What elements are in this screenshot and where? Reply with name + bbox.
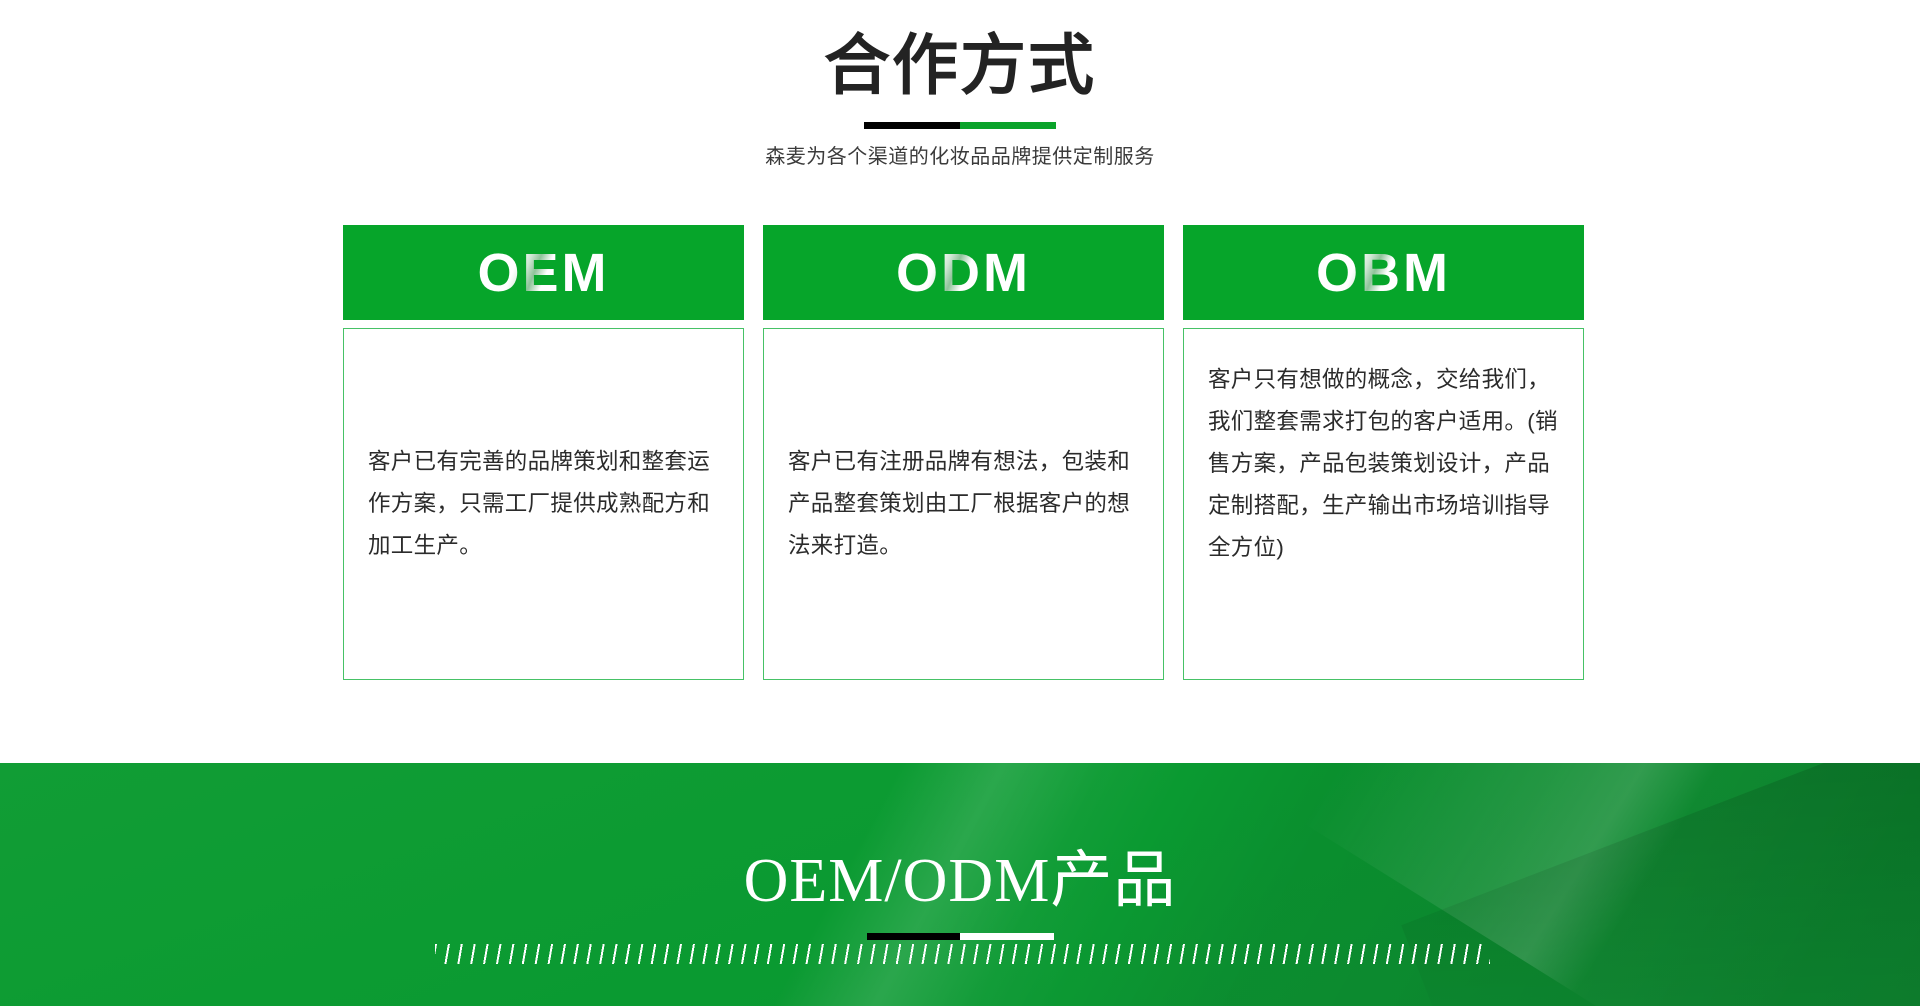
card-description-oem: 客户已有完善的品牌策划和整套运作方案，只需工厂提供成熟配方和加工生产。	[368, 441, 719, 567]
card-title-oem: OEM	[477, 243, 609, 303]
banner-content: OEM/ODM产品	[0, 843, 1920, 940]
page-title: 合作方式	[0, 26, 1920, 108]
cooperation-card-obm[interactable]: OBM 客户只有想做的概念，交给我们，我们整套需求打包的客户适用。(销售方案，产…	[1183, 225, 1584, 680]
card-header-oem: OEM	[343, 225, 744, 320]
card-title-odm: ODM	[896, 243, 1031, 303]
page-root: 合作方式 森麦为各个渠道的化妆品品牌提供定制服务 OEM 客户已有完善的品牌策划…	[0, 0, 1920, 1006]
banner-title: OEM/ODM产品	[0, 843, 1920, 919]
card-description-obm: 客户只有想做的概念，交给我们，我们整套需求打包的客户适用。(销售方案，产品包装策…	[1208, 359, 1559, 569]
product-banner: OEM/ODM产品	[0, 763, 1920, 1006]
card-description-odm: 客户已有注册品牌有想法，包装和产品整套策划由工厂根据客户的想法来打造。	[788, 441, 1139, 567]
title-divider-green-half	[960, 122, 1056, 129]
card-header-odm: ODM	[763, 225, 1164, 320]
section-header: 合作方式 森麦为各个渠道的化妆品品牌提供定制服务	[0, 26, 1920, 172]
card-title-obm: OBM	[1316, 243, 1451, 303]
banner-divider	[867, 933, 1054, 940]
cooperation-card-odm[interactable]: ODM 客户已有注册品牌有想法，包装和产品整套策划由工厂根据客户的想法来打造。	[763, 225, 1164, 680]
cooperation-card-list: OEM 客户已有完善的品牌策划和整套运作方案，只需工厂提供成熟配方和加工生产。 …	[343, 225, 1584, 680]
banner-divider-white-half	[960, 933, 1054, 940]
cooperation-card-oem[interactable]: OEM 客户已有完善的品牌策划和整套运作方案，只需工厂提供成熟配方和加工生产。	[343, 225, 744, 680]
banner-divider-dark-half	[867, 933, 961, 940]
title-divider	[864, 122, 1056, 129]
card-body-odm: 客户已有注册品牌有想法，包装和产品整套策划由工厂根据客户的想法来打造。	[763, 328, 1164, 680]
card-body-obm: 客户只有想做的概念，交给我们，我们整套需求打包的客户适用。(销售方案，产品包装策…	[1183, 328, 1584, 680]
card-header-obm: OBM	[1183, 225, 1584, 320]
title-divider-dark-half	[864, 122, 960, 129]
page-subtitle: 森麦为各个渠道的化妆品品牌提供定制服务	[0, 142, 1920, 172]
card-body-oem: 客户已有完善的品牌策划和整套运作方案，只需工厂提供成熟配方和加工生产。	[343, 328, 744, 680]
